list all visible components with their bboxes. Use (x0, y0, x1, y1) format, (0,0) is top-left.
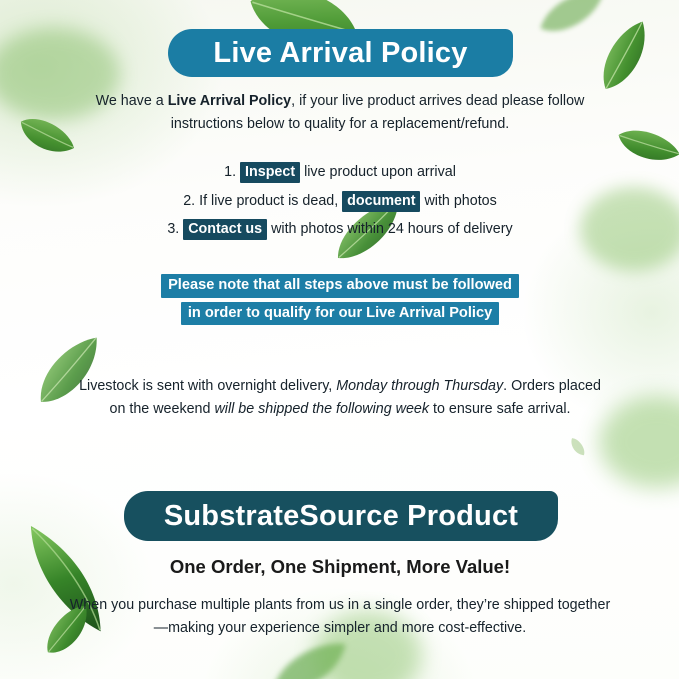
shipping-schedule-paragraph: Livestock is sent with overnight deliver… (72, 375, 608, 421)
step-post-text: with photos (420, 193, 496, 209)
step-post-text: with photos within 24 hours of delivery (267, 221, 513, 237)
substratesource-product-banner: SubstrateSource Product (124, 491, 558, 541)
intro-paragraph: We have a Live Arrival Policy, if your l… (62, 90, 618, 136)
policy-infographic: Live Arrival Policy We have a Live Arriv… (0, 0, 679, 679)
callout-line-1: Please note that all steps above must be… (161, 274, 519, 298)
shipping-text-1: Livestock is sent with overnight deliver… (79, 378, 336, 394)
step-highlight-inspect: Inspect (240, 162, 300, 183)
step-pre-text: If live product is dead, (199, 193, 342, 209)
list-item: 2. If live product is dead, document wit… (40, 192, 640, 211)
shipping-italic-2: will be shipped the following week (214, 401, 429, 417)
step-post-text: live product upon arrival (300, 164, 456, 180)
step-number: 3. (167, 221, 179, 237)
live-arrival-policy-banner: Live Arrival Policy (168, 29, 513, 77)
policy-steps-list: 1. Inspect live product upon arrival 2. … (40, 163, 640, 249)
intro-prefix: We have a (96, 93, 168, 109)
product-value-paragraph: When you purchase multiple plants from u… (68, 594, 612, 640)
step-number: 2. (183, 193, 195, 209)
content-layer: Live Arrival Policy We have a Live Arriv… (0, 0, 679, 679)
shipping-text-3: to ensure safe arrival. (429, 401, 570, 417)
intro-bold-phrase: Live Arrival Policy (168, 93, 291, 109)
shipping-italic-1: Monday through Thursday (336, 378, 503, 394)
step-highlight-contact-us: Contact us (183, 219, 267, 240)
step-highlight-document: document (342, 191, 420, 212)
policy-callout: Please note that all steps above must be… (40, 274, 640, 329)
product-subtitle: One Order, One Shipment, More Value! (40, 556, 640, 578)
callout-line-2: in order to qualify for our Live Arrival… (181, 302, 499, 326)
step-number: 1. (224, 164, 236, 180)
list-item: 1. Inspect live product upon arrival (40, 163, 640, 182)
list-item: 3. Contact us with photos within 24 hour… (40, 220, 640, 239)
